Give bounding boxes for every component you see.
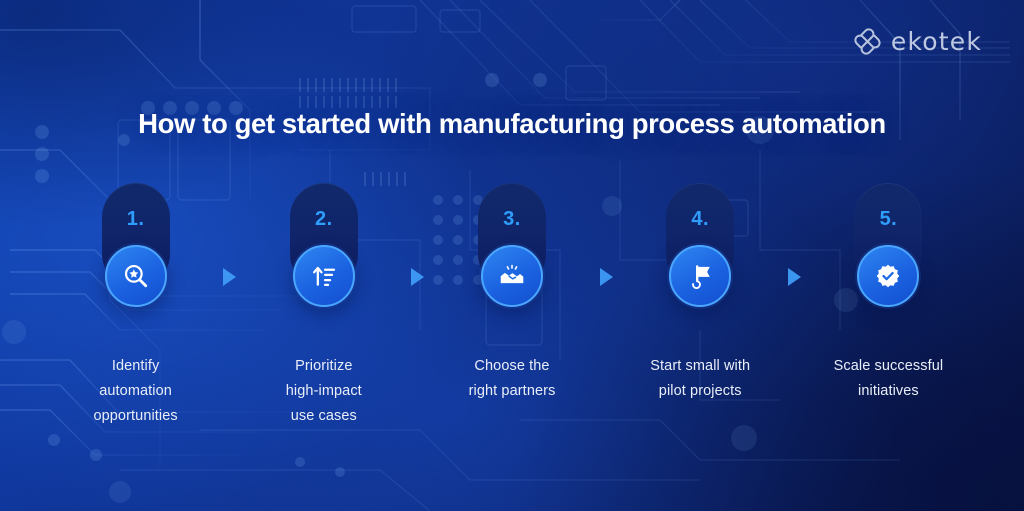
step-item-1[interactable]: 1. Identify automation opportunities bbox=[48, 183, 223, 429]
sort-ascending-arrow-icon bbox=[311, 263, 337, 289]
step-icon-circle-1[interactable] bbox=[105, 245, 167, 307]
triangle-right-icon bbox=[788, 268, 801, 286]
step-icon-circle-5[interactable] bbox=[857, 245, 919, 307]
step-item-5[interactable]: 5. Scale successful initiatives bbox=[801, 183, 976, 404]
step-pill-1: 1. bbox=[102, 183, 170, 288]
step-icon-circle-4[interactable] bbox=[669, 245, 731, 307]
step-pill-4: 4. bbox=[666, 183, 734, 288]
step-caption-4: Start small with pilot projects bbox=[650, 354, 750, 404]
flag-icon bbox=[687, 263, 713, 289]
triangle-right-icon bbox=[411, 268, 424, 286]
step-item-3[interactable]: 3. Choose the right partners bbox=[424, 183, 599, 404]
triangle-right-icon bbox=[223, 268, 236, 286]
brand-logo[interactable]: ekotek bbox=[854, 27, 982, 56]
handshake-icon bbox=[499, 263, 525, 289]
step-icon-circle-2[interactable] bbox=[293, 245, 355, 307]
triangle-right-icon bbox=[600, 268, 613, 286]
steps-row: 1. Identify automation opportunities 2. bbox=[48, 183, 976, 429]
step-caption-2: Prioritize high-impact use cases bbox=[286, 354, 362, 429]
verified-badge-check-icon bbox=[875, 263, 901, 289]
step-item-2[interactable]: 2. Prioritize high-impact use c bbox=[236, 183, 411, 429]
step-caption-3: Choose the right partners bbox=[469, 354, 556, 404]
infographic-canvas: ekotek How to get started with manufactu… bbox=[0, 0, 1024, 511]
step-icon-circle-3[interactable] bbox=[481, 245, 543, 307]
ekotek-interlocking-mark-icon bbox=[854, 28, 881, 55]
step-pill-5: 5. bbox=[854, 183, 922, 288]
step-caption-1: Identify automation opportunities bbox=[93, 354, 177, 429]
brand-name: ekotek bbox=[891, 27, 982, 56]
step-caption-5: Scale successful initiatives bbox=[834, 354, 944, 404]
magnifier-star-icon bbox=[123, 263, 149, 289]
step-pill-3: 3. bbox=[478, 183, 546, 288]
step-item-4[interactable]: 4. Start small with pilot projects bbox=[613, 183, 788, 404]
corner-mask-bottom-left bbox=[0, 497, 14, 511]
page-title: How to get started with manufacturing pr… bbox=[0, 108, 1024, 140]
step-pill-2: 2. bbox=[290, 183, 358, 288]
